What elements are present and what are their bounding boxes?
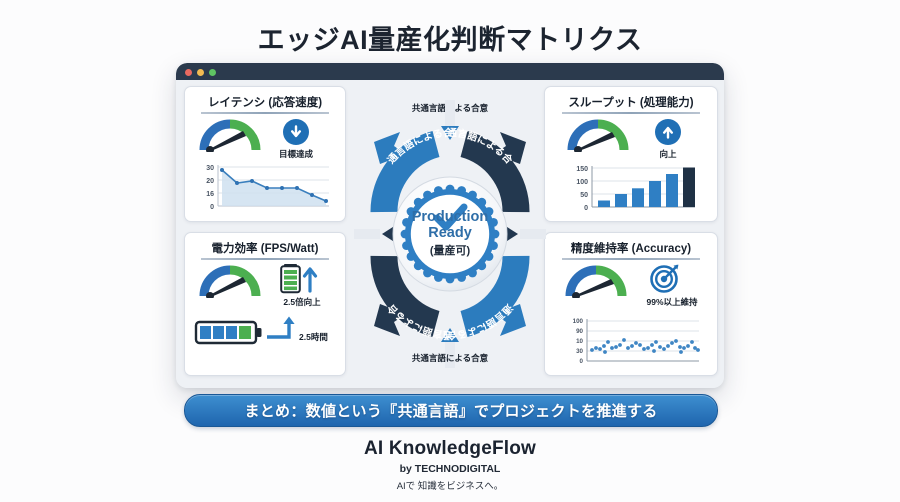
svg-text:100: 100 <box>573 318 584 325</box>
card-latency[interactable]: レイテンシ (応答速度) 目標達成 <box>184 86 346 222</box>
card-divider <box>201 112 329 114</box>
svg-text:90: 90 <box>576 328 583 335</box>
throughput-gauge <box>567 118 629 152</box>
svg-text:100: 100 <box>576 179 588 186</box>
latency-gauge <box>199 118 261 152</box>
svg-text:150: 150 <box>576 166 588 173</box>
battery-horizontal-icon <box>193 315 269 354</box>
summary-banner[interactable]: まとめ：数値という『共通言語』でプロジェクトを推進する <box>184 394 718 427</box>
card-divider <box>562 112 700 114</box>
svg-text:20: 20 <box>206 178 214 185</box>
cycle-label-bottom: 共通言語による合意 <box>354 352 546 364</box>
minimize-button[interactable] <box>197 69 204 76</box>
svg-text:0: 0 <box>210 204 214 211</box>
runtime-arrow-icon <box>265 313 303 347</box>
arrow-up-icon <box>655 119 681 145</box>
accuracy-gauge <box>565 264 627 298</box>
svg-text:0: 0 <box>580 358 584 365</box>
window-content: レイテンシ (応答速度) 目標達成 <box>176 80 724 388</box>
card-power-efficiency[interactable]: 電力効率 (FPS/Watt) <box>184 232 346 376</box>
svg-text:10: 10 <box>576 338 583 345</box>
svg-text:30: 30 <box>206 165 214 172</box>
cycle-diagram: 共通言語による合意 共通言語による合意 共通言語による合意 共通言語による合意 … <box>354 84 546 384</box>
arrow-down-icon <box>283 119 309 145</box>
accuracy-scatter-chart: 100 90 10 30 0 <box>561 315 703 371</box>
footer-by: by TECHNODIGITAL <box>0 463 900 475</box>
card-latency-title: レイテンシ (応答速度) <box>185 94 345 110</box>
card-throughput-title: スループット (処理能力) <box>545 94 717 110</box>
throughput-badge-label: 向上 <box>640 148 696 160</box>
accuracy-badge-label: 99%以上維持 <box>631 296 713 308</box>
svg-text:50: 50 <box>580 192 588 199</box>
card-divider <box>201 258 329 260</box>
card-accuracy[interactable]: 精度維持率 (Accuracy) <box>544 232 718 376</box>
footer-brand: AI KnowledgeFlow <box>0 438 900 460</box>
card-divider <box>562 258 700 260</box>
latency-badge-label: 目標達成 <box>268 148 324 160</box>
card-throughput[interactable]: スループット (処理能力) 向上 <box>544 86 718 222</box>
maximize-button[interactable] <box>209 69 216 76</box>
summary-banner-text: まとめ：数値という『共通言語』でプロジェクトを推進する <box>244 400 657 421</box>
close-button[interactable] <box>185 69 192 76</box>
svg-text:共通言語による合意: 共通言語による合意 <box>354 84 454 166</box>
battery-vertical-icon <box>279 261 321 300</box>
browser-window: レイテンシ (応答速度) 目標達成 <box>176 63 724 388</box>
card-accuracy-title: 精度維持率 (Accuracy) <box>545 240 717 256</box>
window-titlebar <box>176 63 724 80</box>
screenshot-root: エッジAI量産化判断マトリクス レイテンシ (応答速度) <box>0 0 900 502</box>
footer-tagline: AIで 知識をビジネスへ。 <box>0 478 900 492</box>
svg-text:0: 0 <box>584 205 588 212</box>
latency-line-chart: 30 20 16 0 <box>197 161 333 217</box>
power-gauge <box>199 264 261 298</box>
power-badge-label: 2.5倍向上 <box>269 296 335 308</box>
cycle-arc-label: 共通言語による合意 <box>354 84 454 166</box>
card-power-title: 電力効率 (FPS/Watt) <box>185 240 345 256</box>
svg-text:16: 16 <box>206 191 214 198</box>
svg-text:30: 30 <box>576 348 583 355</box>
target-icon <box>649 262 681 294</box>
power-runtime-label: 2.5時間 <box>299 331 328 343</box>
throughput-bar-chart: 150 100 50 0 <box>569 161 699 217</box>
footer: AI KnowledgeFlow by TECHNODIGITAL AIで 知識… <box>0 438 900 492</box>
page-title: エッジAI量産化判断マトリクス <box>0 18 900 57</box>
